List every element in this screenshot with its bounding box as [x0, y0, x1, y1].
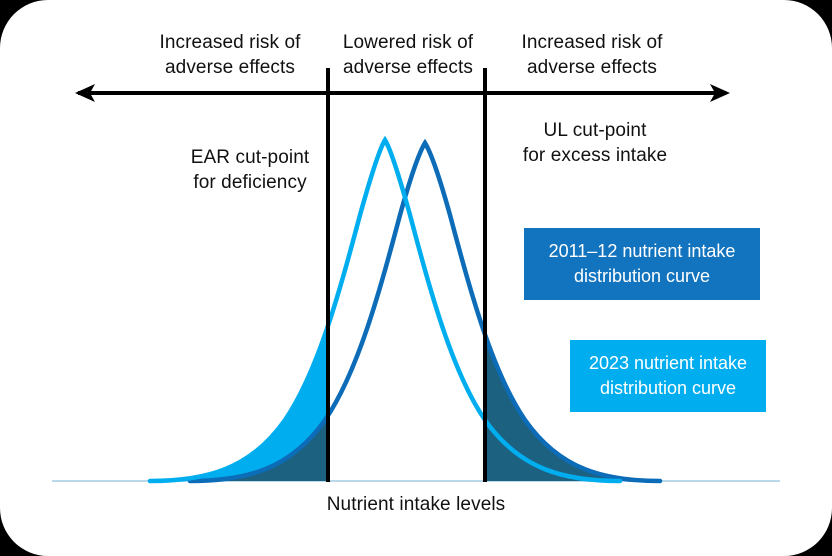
risk-zone-label-right: Increased risk of adverse effects — [492, 30, 692, 80]
ear-cutpoint-annotation: EAR cut-point for deficiency — [140, 145, 360, 195]
risk-zone-label-middle: Lowered risk of adverse effects — [333, 30, 483, 80]
ul-cutpoint-annotation: UL cut-point for excess intake — [485, 118, 705, 168]
risk-zone-label-left: Increased risk of adverse effects — [130, 30, 330, 80]
screenshot-root: Increased risk of adverse effects Lowere… — [0, 0, 832, 556]
legend-item-2011-12: 2011–12 nutrient intake distribution cur… — [524, 228, 760, 300]
legend-item-2023: 2023 nutrient intake distribution curve — [570, 340, 766, 412]
infographic-card: Increased risk of adverse effects Lowere… — [0, 0, 832, 556]
blue-right-tail-fill — [425, 143, 660, 481]
x-axis-label: Nutrient intake levels — [216, 492, 616, 517]
